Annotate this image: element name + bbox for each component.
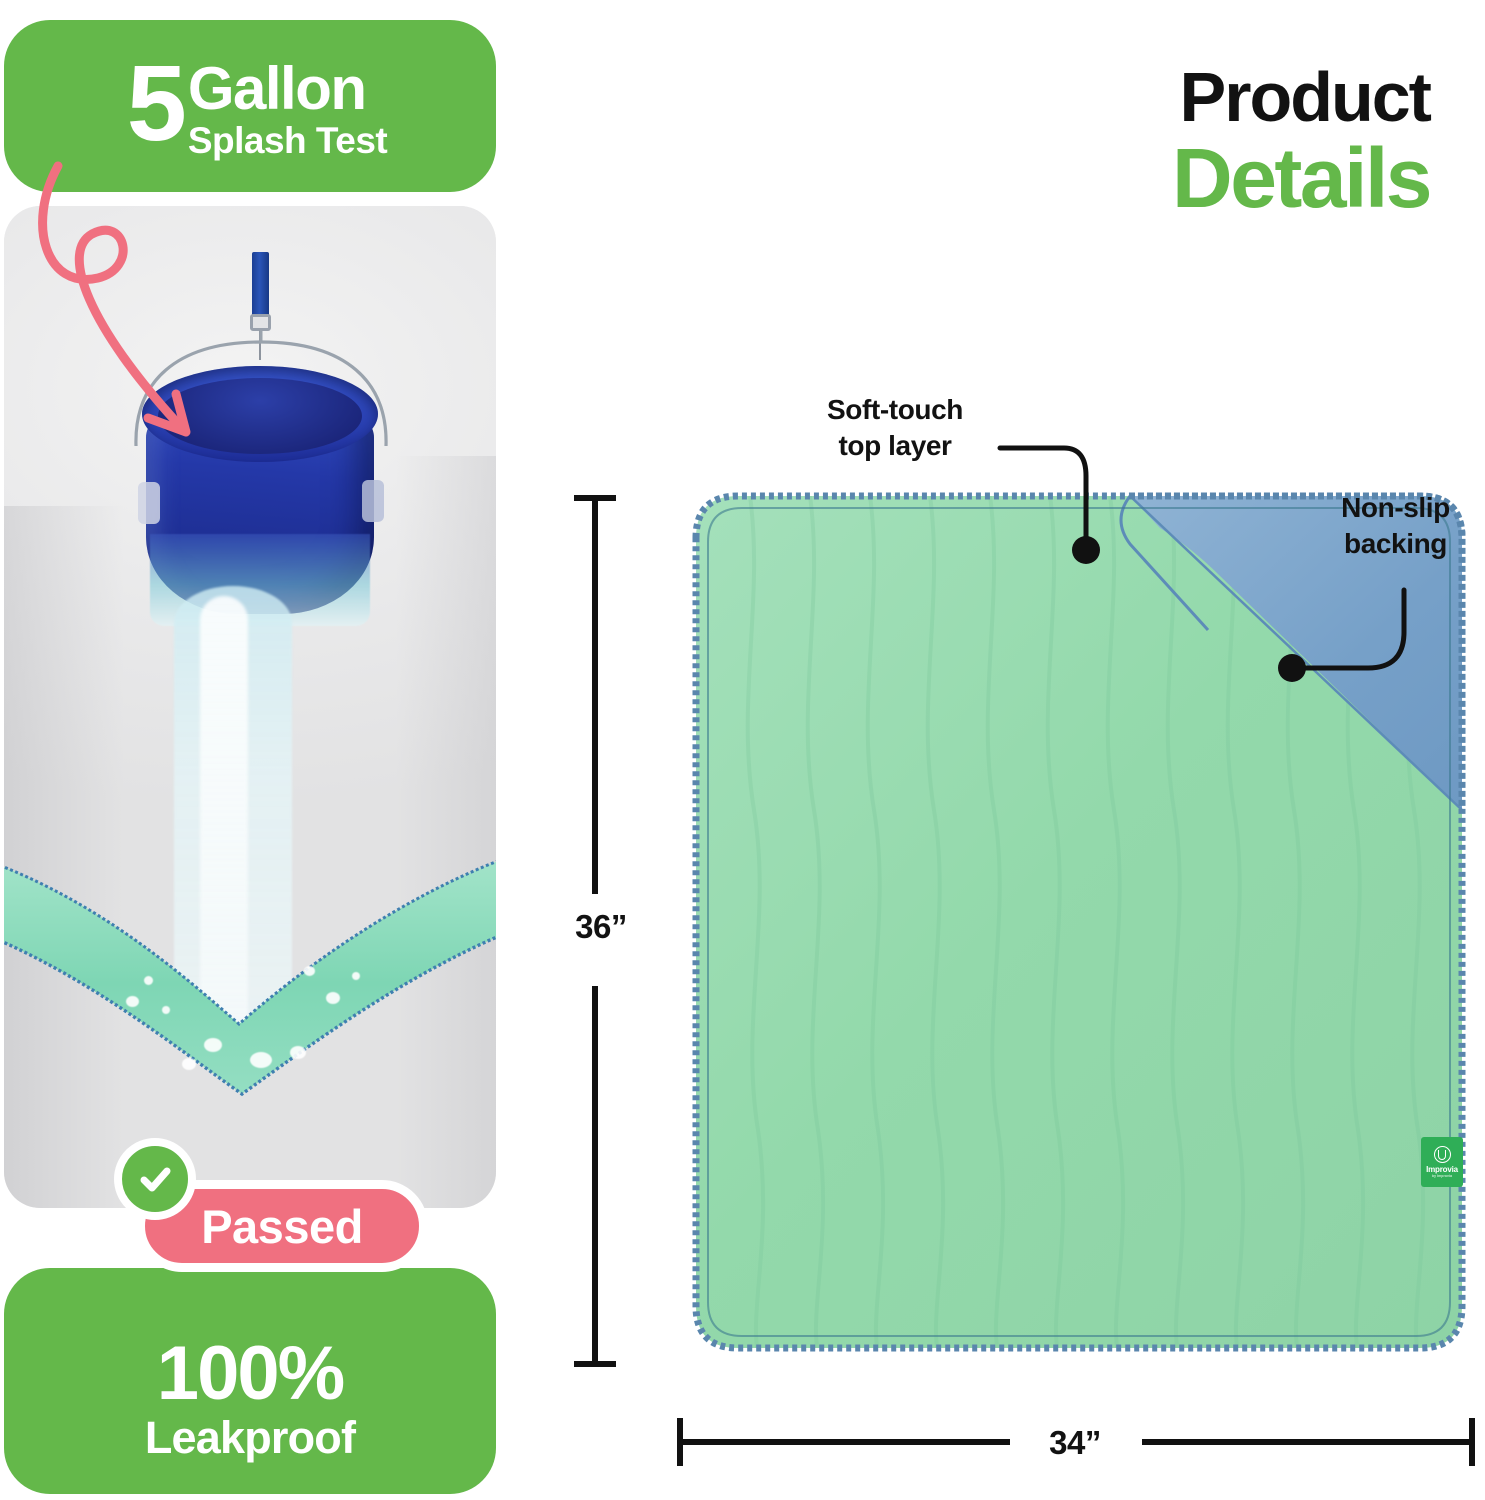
brand-tagline: by Improvia <box>1432 1175 1452 1178</box>
splash-droplet <box>182 1058 196 1070</box>
splash-droplet <box>250 1052 272 1068</box>
callout-dot-top <box>1072 536 1100 564</box>
splash-droplet <box>304 966 315 976</box>
splash-badge-content: 5 Gallon Splash Test <box>113 51 388 162</box>
page-title: Product Details <box>1030 62 1430 220</box>
passed-badge-group: Passed <box>110 1136 440 1296</box>
leakproof-badge: 100% Leakproof <box>4 1268 496 1494</box>
splash-droplet <box>326 992 340 1004</box>
title-line-details: Details <box>1030 136 1430 220</box>
dimension-label-height: 36” <box>555 908 647 946</box>
leakproof-label: Leakproof <box>145 1414 355 1461</box>
callout-leader-top <box>1000 440 1110 570</box>
splash-droplet <box>126 996 139 1007</box>
splash-text-column: Gallon Splash Test <box>188 51 387 162</box>
green-pad-sheet <box>4 826 496 1116</box>
bucket-handle-lug-left <box>138 482 160 524</box>
improvia-logo-icon <box>1434 1146 1451 1163</box>
splash-droplet <box>162 1006 170 1014</box>
left-panel: 5 Gallon Splash Test Passed <box>0 0 520 1500</box>
callout-line-1: Non-slip <box>1341 492 1450 523</box>
title-line-product: Product <box>1030 62 1430 132</box>
dimension-label-width: 34” <box>1020 1424 1130 1462</box>
pink-arrow-annotation <box>30 150 290 470</box>
splash-droplet <box>290 1046 306 1059</box>
callout-non-slip-backing: Non-slip backing <box>1308 490 1483 562</box>
check-circle-icon <box>114 1138 196 1220</box>
callout-leader-side <box>1278 590 1418 690</box>
bucket-handle-lug-right <box>362 480 384 522</box>
callout-line-2: backing <box>1344 528 1447 559</box>
callout-line-1: Soft-touch <box>827 394 963 425</box>
callout-dot-side <box>1278 654 1306 682</box>
brand-name: Improvia <box>1426 1166 1458 1174</box>
splash-droplet <box>352 972 360 980</box>
passed-label: Passed <box>201 1203 363 1250</box>
callout-line-2: top layer <box>838 430 951 461</box>
leakproof-percentage: 100% <box>157 1336 343 1412</box>
splash-gallon-number: 5 <box>127 51 184 156</box>
splash-droplet <box>144 976 153 985</box>
splash-unit-label: Gallon <box>188 59 387 119</box>
splash-droplet <box>204 1038 222 1052</box>
callout-soft-touch-top-layer: Soft-touch top layer <box>790 392 1000 464</box>
brand-tag: Improvia by Improvia <box>1421 1137 1463 1187</box>
infographic-root: 5 Gallon Splash Test Passed <box>0 0 1485 1500</box>
